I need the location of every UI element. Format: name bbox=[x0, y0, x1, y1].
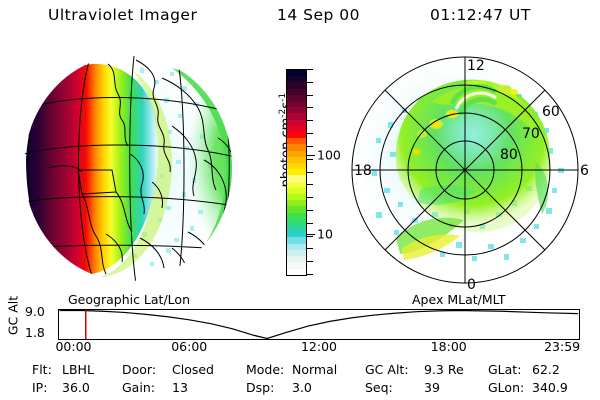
altitude-axis-title: GC Alt bbox=[6, 288, 21, 344]
colorbar-tick bbox=[307, 172, 313, 173]
altitude-timeline-panel: Geographic Lat/Lon Apex MLat/MLT GC Alt … bbox=[0, 292, 600, 354]
status-panel: Flt:LBHLDoor:ClosedMode:NormalGC Alt:9.3… bbox=[0, 362, 600, 400]
status-value: 9.3 Re bbox=[424, 362, 464, 377]
geographic-globe-image[interactable] bbox=[12, 42, 260, 290]
colorbar-ticks bbox=[307, 69, 315, 276]
globe-disc bbox=[12, 42, 260, 290]
globe-plot-caption: Geographic Lat/Lon bbox=[68, 292, 190, 307]
colorbar-tick-major bbox=[307, 234, 315, 235]
status-value: 36.0 bbox=[62, 380, 90, 395]
colorbar-tick bbox=[307, 210, 313, 211]
colorbar-tick-label-10: 10 bbox=[317, 227, 333, 242]
uvi-display-window: Ultraviolet Imager 14 Sep 00 01:12:47 UT bbox=[0, 0, 600, 400]
altitude-x-tick: 06:00 bbox=[171, 339, 207, 354]
status-value: 62.2 bbox=[532, 362, 560, 377]
colorbar-tick bbox=[307, 236, 313, 237]
polar-mlt-label-0: 0 bbox=[467, 277, 476, 292]
polar-mlat-label-80: 80 bbox=[500, 147, 518, 163]
globe-svg bbox=[12, 42, 260, 290]
status-value: 340.9 bbox=[532, 380, 568, 395]
colorbar-tick bbox=[307, 159, 313, 160]
colorbar-tick bbox=[307, 95, 313, 96]
colorbar-tick bbox=[307, 82, 313, 83]
status-row: Flt:LBHLDoor:ClosedMode:NormalGC Alt:9.3… bbox=[0, 362, 600, 380]
instrument-title: Ultraviolet Imager bbox=[48, 6, 197, 24]
header-bar: Ultraviolet Imager 14 Sep 00 01:12:47 UT bbox=[0, 6, 600, 28]
colorbar-tick bbox=[307, 184, 313, 185]
altitude-ytick-low: 1.8 bbox=[25, 325, 45, 340]
altitude-x-tick: 12:00 bbox=[301, 339, 337, 354]
status-value: 39 bbox=[424, 380, 440, 395]
status-value: Closed bbox=[172, 362, 214, 377]
status-row: IP:36.0Gain:13Dsp:3.0Seq:39GLon:340.9 bbox=[0, 380, 600, 398]
colorbar-tick bbox=[307, 107, 313, 108]
colorbar-tick bbox=[307, 120, 313, 121]
status-label: Gain: bbox=[122, 380, 155, 395]
altitude-chart[interactable] bbox=[58, 309, 580, 340]
status-value: 13 bbox=[172, 380, 188, 395]
polar-mlt-label-6: 6 bbox=[580, 163, 589, 179]
colorbar-tick bbox=[307, 69, 313, 70]
status-label: GLat: bbox=[488, 362, 521, 377]
colorbar-panel: photon cm-2s-1 100 10 bbox=[258, 60, 338, 285]
altitude-x-tick: 18:00 bbox=[431, 339, 467, 354]
polar-mlat-label-70: 70 bbox=[522, 126, 540, 142]
status-label: Seq: bbox=[365, 380, 393, 395]
polar-svg: 12 6 0 18 60 70 80 bbox=[336, 42, 594, 292]
colorbar-tick bbox=[307, 248, 313, 249]
altitude-x-tick: 00:00 bbox=[55, 339, 91, 354]
altitude-x-tick: 23:59 bbox=[544, 339, 580, 354]
status-label: Dsp: bbox=[246, 380, 274, 395]
status-value: LBHL bbox=[62, 362, 94, 377]
status-label: Mode: bbox=[246, 362, 284, 377]
observation-date: 14 Sep 00 bbox=[277, 6, 360, 24]
altitude-ytick-high: 9.0 bbox=[25, 304, 45, 319]
colorbar-tick bbox=[307, 261, 313, 262]
polar-mlat-mlt-image[interactable]: 12 6 0 18 60 70 80 bbox=[336, 42, 594, 292]
polar-plot-caption: Apex MLat/MLT bbox=[412, 292, 506, 307]
status-label: Door: bbox=[122, 362, 156, 377]
polar-mlt-spokes bbox=[352, 57, 578, 283]
colorbar-segment bbox=[287, 269, 306, 275]
altitude-x-tick-labels: 00:0006:0012:0018:0023:59 bbox=[0, 339, 600, 357]
colorbar-tick bbox=[307, 223, 313, 224]
polar-mlt-label-18: 18 bbox=[354, 163, 372, 179]
colorbar-tick bbox=[307, 197, 313, 198]
status-label: IP: bbox=[32, 380, 47, 395]
polar-mlt-label-12: 12 bbox=[467, 58, 485, 74]
polar-mlat-label-60: 60 bbox=[542, 104, 560, 120]
observation-time: 01:12:47 UT bbox=[430, 6, 531, 24]
colorbar-tick bbox=[307, 133, 313, 134]
status-value: Normal bbox=[292, 362, 337, 377]
colorbar-tick-major bbox=[307, 155, 315, 156]
colorbar-gradient bbox=[286, 69, 307, 276]
colorbar-tick bbox=[307, 274, 313, 275]
status-label: GC Alt: bbox=[365, 362, 409, 377]
status-label: Flt: bbox=[32, 362, 52, 377]
status-value: 3.0 bbox=[292, 380, 312, 395]
status-label: GLon: bbox=[488, 380, 524, 395]
colorbar-tick bbox=[307, 146, 313, 147]
